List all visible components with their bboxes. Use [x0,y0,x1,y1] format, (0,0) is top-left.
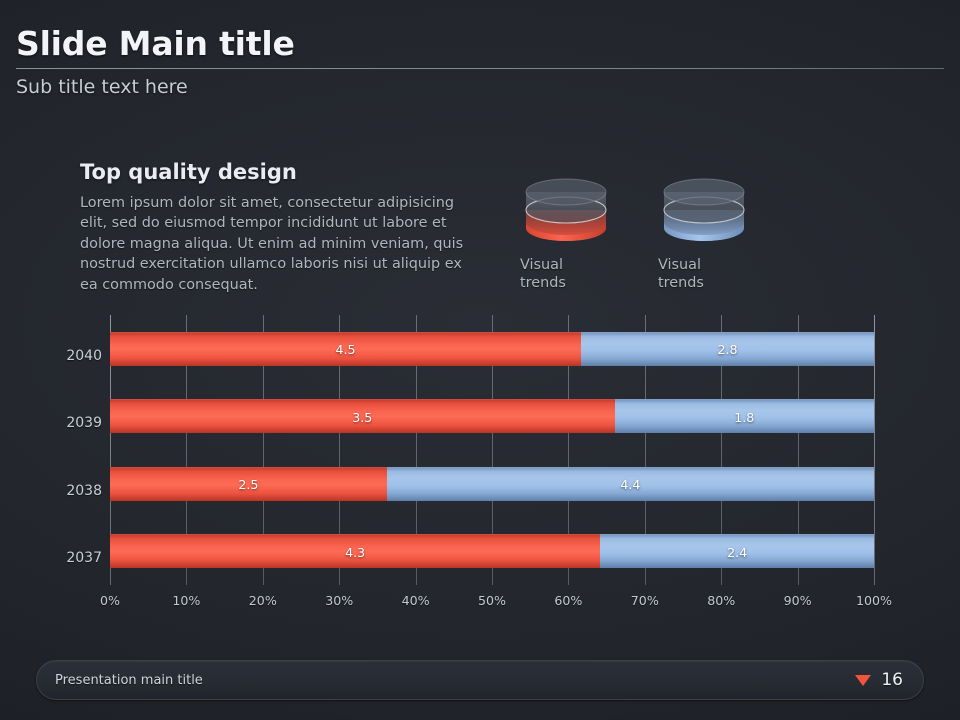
chart-bar-segment[interactable]: 4.3 [110,534,600,568]
cylinder-icon-blue [658,176,750,248]
chart-x-tick-label: 40% [402,593,430,608]
chart-bar-row[interactable]: 3.51.8 [110,399,874,433]
intro-block: Top quality design Lorem ipsum dolor sit… [80,160,480,295]
chart-x-tick-label: 50% [478,593,506,608]
visual-trends-label-2: Visual trends [658,256,758,293]
chart-x-tick-label: 100% [856,593,892,608]
chart-x-tick-label: 60% [554,593,582,608]
chart-value-label: 1.8 [734,410,754,425]
chart-value-label: 4.4 [620,477,640,492]
chart-category-axis: 2040203920382037 [0,315,102,585]
chart-x-tick-label: 30% [325,593,353,608]
chart-x-tick-label: 70% [631,593,659,608]
chart-x-tick-label: 90% [784,593,812,608]
chart-category-label: 2038 [6,483,102,499]
chart-bar-row[interactable]: 4.32.4 [110,534,874,568]
chart-category-label: 2037 [6,550,102,566]
chart-x-tick-label: 10% [172,593,200,608]
chart-value-label: 4.5 [335,342,355,357]
chart-bar-row[interactable]: 2.54.4 [110,467,874,501]
title-divider [16,68,944,69]
stacked-bar-chart: 2040203920382037 4.52.83.51.82.54.44.32.… [0,305,960,615]
page-number: 16 [881,670,903,690]
chart-category-label: 2039 [6,415,102,431]
chart-value-label: 2.5 [238,477,258,492]
intro-body-text: Lorem ipsum dolor sit amet, consectetur … [80,193,480,295]
chart-bar-segment[interactable]: 2.4 [600,534,874,568]
visual-trends-label-1: Visual trends [520,256,620,293]
slide-footer[interactable]: Presentation main title 16 [36,660,924,700]
footer-title: Presentation main title [55,673,203,688]
chart-x-axis: 0%10%20%30%40%50%60%70%80%90%100% [110,593,874,615]
page-subtitle: Sub title text here [16,76,944,98]
visual-trends-item-2: Visual trends [658,176,758,293]
chart-gridline [874,315,875,585]
chart-bar-segment[interactable]: 4.4 [387,467,874,501]
chart-bar-row[interactable]: 4.52.8 [110,332,874,366]
chart-bar-segment[interactable]: 2.8 [581,332,874,366]
cylinder-icon-red [520,176,612,248]
chart-plot-area: 4.52.83.51.82.54.44.32.4 [110,315,874,585]
footer-pager: 16 [855,670,903,690]
visual-trends-item-1: Visual trends [520,176,620,293]
chart-category-label: 2040 [6,348,102,364]
slide-header: Slide Main title Sub title text here [16,26,944,98]
chart-x-tick-label: 0% [100,593,120,608]
intro-heading: Top quality design [80,160,480,184]
triangle-down-icon [855,675,871,686]
chart-value-label: 2.8 [717,342,737,357]
chart-bar-segment[interactable]: 1.8 [615,399,874,433]
chart-bar-segment[interactable]: 2.5 [110,467,387,501]
chart-value-label: 4.3 [345,545,365,560]
chart-value-label: 2.4 [727,545,747,560]
chart-value-label: 3.5 [352,410,372,425]
chart-x-tick-label: 80% [707,593,735,608]
chart-bar-segment[interactable]: 4.5 [110,332,581,366]
page-title: Slide Main title [16,26,944,62]
chart-x-tick-label: 20% [249,593,277,608]
chart-bar-segment[interactable]: 3.5 [110,399,615,433]
